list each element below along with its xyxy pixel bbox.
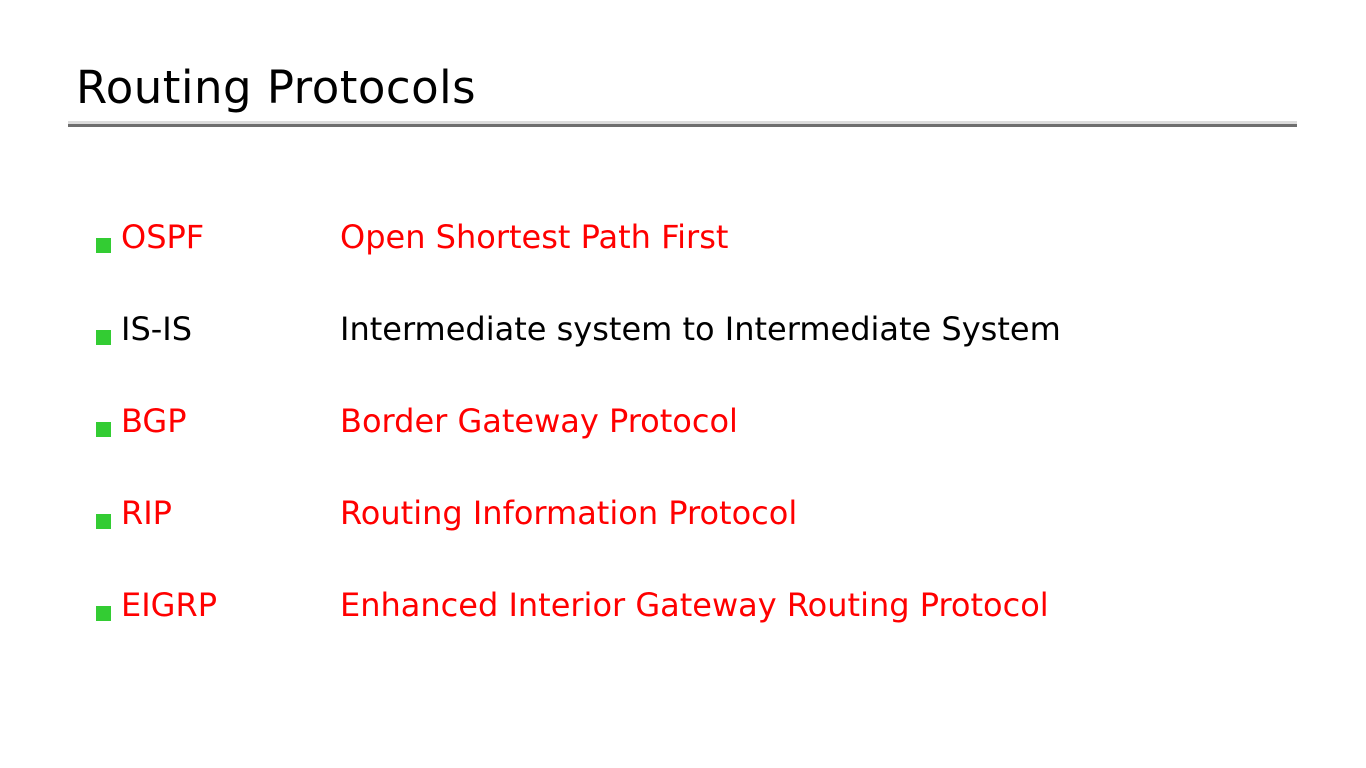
list-item: RIP Routing Information Protocol [96,490,1296,582]
bullet-square-icon [96,606,111,621]
protocol-full-name: Open Shortest Path First [340,214,1296,260]
protocol-full-name: Border Gateway Protocol [340,398,1296,444]
list-item: OSPF Open Shortest Path First [96,214,1296,306]
bullet-square-icon [96,330,111,345]
list-item: BGP Border Gateway Protocol [96,398,1296,490]
presentation-slide: Routing Protocols OSPF Open Shortest Pat… [0,0,1366,768]
protocol-abbreviation: RIP [121,490,340,536]
protocol-abbreviation: OSPF [121,214,340,260]
bullet-square-icon [96,238,111,253]
protocol-full-name: Routing Information Protocol [340,490,1296,536]
protocol-abbreviation: EIGRP [121,582,340,628]
protocol-abbreviation: IS-IS [121,306,340,352]
protocol-list: OSPF Open Shortest Path First IS-IS Inte… [96,214,1296,674]
protocol-abbreviation: BGP [121,398,340,444]
protocol-full-name: Enhanced Interior Gateway Routing Protoc… [340,582,1296,628]
protocol-full-name: Intermediate system to Intermediate Syst… [340,306,1296,352]
bullet-square-icon [96,514,111,529]
divider-shadow-line [68,124,1297,127]
page-title: Routing Protocols [76,62,476,114]
list-item: IS-IS Intermediate system to Intermediat… [96,306,1296,398]
title-divider-rule [68,121,1297,127]
bullet-square-icon [96,422,111,437]
list-item: EIGRP Enhanced Interior Gateway Routing … [96,582,1296,674]
